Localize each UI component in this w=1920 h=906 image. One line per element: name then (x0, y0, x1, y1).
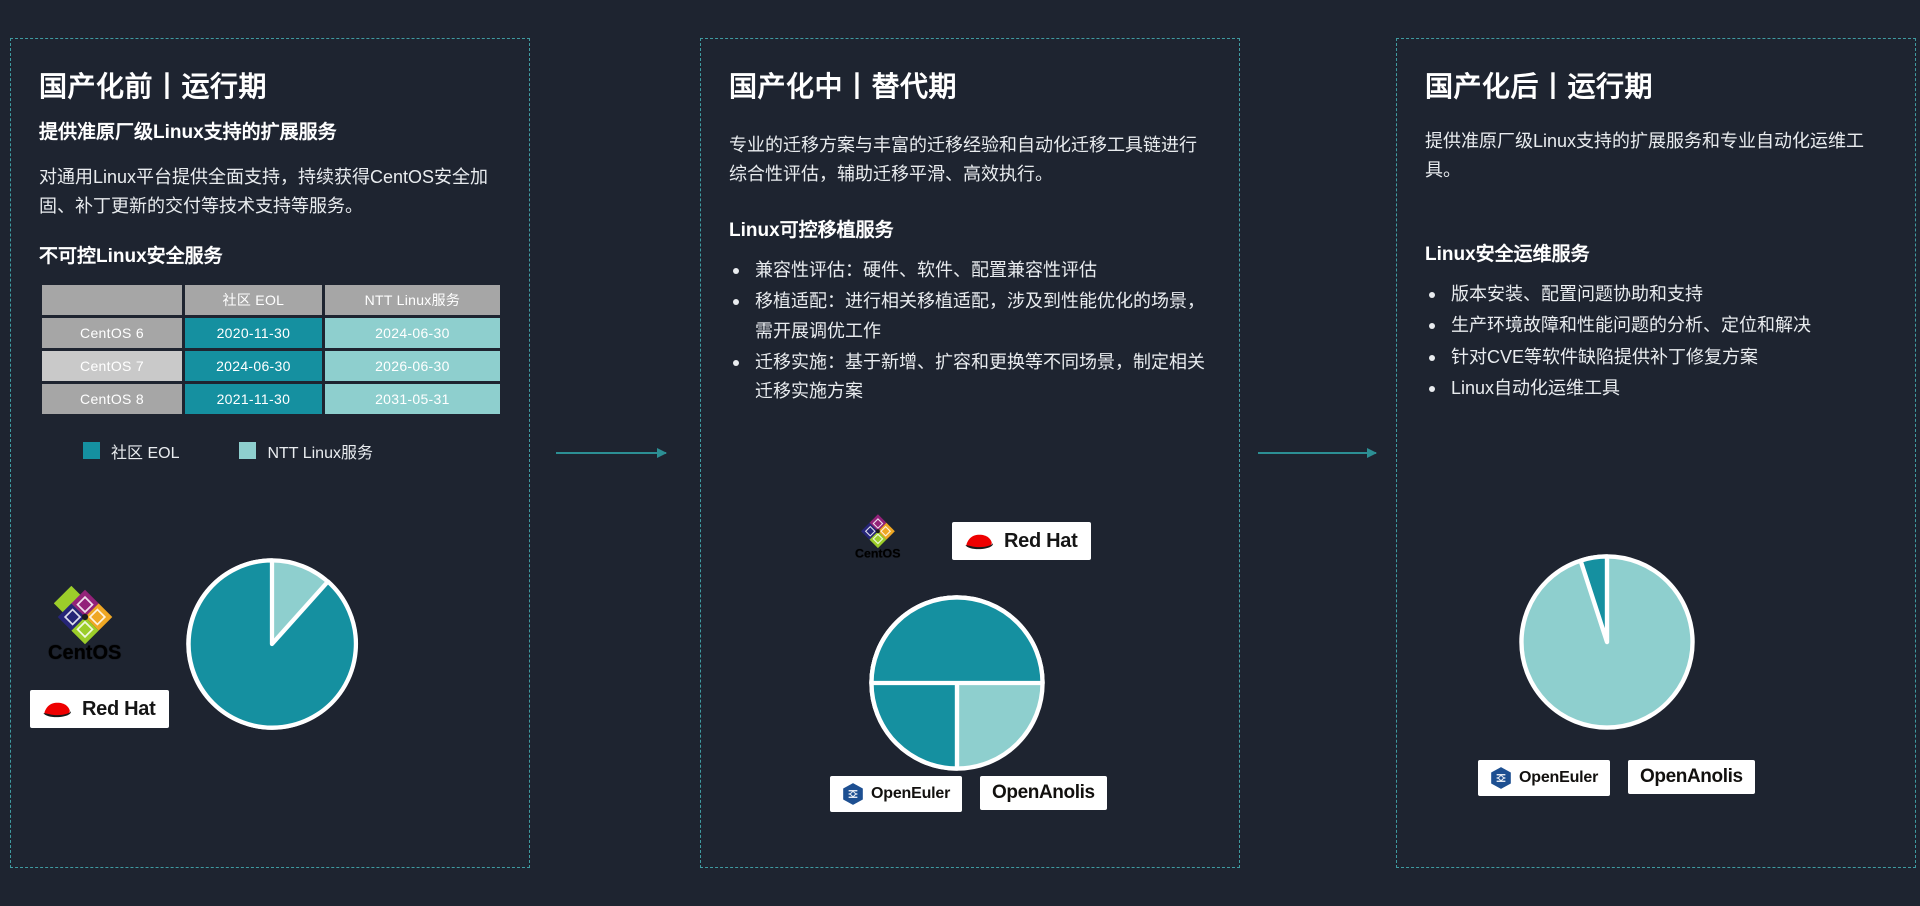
panel-before-localization: 国产化前丨运行期 提供准原厂级Linux支持的扩展服务 对通用Linux平台提供… (10, 38, 530, 868)
table-col-os (42, 285, 182, 315)
panel-2-body: 专业的迁移方案与丰富的迁移经验和自动化迁移工具链进行综合性评估，辅助迁移平滑、高… (729, 131, 1211, 189)
panel-1-title: 国产化前丨运行期 (39, 65, 501, 105)
redhat-logo: Red Hat (30, 690, 169, 728)
redhat-fedora-icon (962, 529, 996, 553)
centos-wordmark: CentOS (855, 547, 900, 561)
openanolis-logo: OpenAnolis (980, 776, 1107, 810)
openeuler-wordmark: OpenEuler (871, 785, 950, 803)
openeuler-mark-icon (1490, 766, 1512, 790)
openanolis-wordmark: OpenAnolis (992, 782, 1095, 804)
openeuler-mark-icon (842, 782, 864, 806)
pie-chart-panel-3 (1516, 551, 1698, 733)
eol-table: 社区 EOL NTT Linux服务 CentOS 6 2020-11-30 2… (39, 282, 503, 417)
list-item: 移植适配：进行相关移植适配，涉及到性能优化的场景，需开展调优工作 (729, 287, 1211, 345)
redhat-fedora-icon (40, 697, 74, 721)
table-row: CentOS 8 2021-11-30 2031-05-31 (42, 384, 500, 414)
centos-logo: CentOS (48, 586, 121, 665)
panel-1-section-heading: 不可控Linux安全服务 (39, 241, 501, 268)
openanolis-wordmark: OpenAnolis (1640, 766, 1743, 788)
centos-mark-icon (54, 586, 116, 648)
cell-os: CentOS 8 (42, 384, 182, 414)
arrow-stage-1-to-2 (556, 452, 666, 454)
legend-label: 社区 EOL (111, 439, 179, 463)
legend-swatch-icon (239, 442, 256, 459)
legend-swatch-icon (83, 442, 100, 459)
openanolis-logo: OpenAnolis (1628, 760, 1755, 794)
redhat-logo: Red Hat (952, 522, 1091, 560)
cell-eol: 2020-11-30 (185, 318, 322, 348)
panel-3-body: 提供准原厂级Linux支持的扩展服务和专业自动化运维工具。 (1425, 127, 1887, 185)
cell-os: CentOS 7 (42, 351, 182, 381)
openeuler-logo: OpenEuler (830, 776, 962, 812)
table-col-ntt: NTT Linux服务 (325, 285, 500, 315)
panel-2-section-heading: Linux可控移植服务 (729, 215, 1211, 242)
list-item: 生产环境故障和性能问题的分析、定位和解决 (1425, 311, 1887, 340)
legend-label: NTT Linux服务 (267, 439, 373, 463)
list-item: Linux自动化运维工具 (1425, 374, 1887, 403)
panel-3-bullet-list: 版本安装、配置问题协助和支持 生产环境故障和性能问题的分析、定位和解决 针对CV… (1425, 280, 1887, 403)
panel-2-title: 国产化中丨替代期 (729, 65, 1211, 105)
cell-eol: 2024-06-30 (185, 351, 322, 381)
centos-logo: CentOS (855, 512, 900, 561)
cell-ntt: 2024-06-30 (325, 318, 500, 348)
list-item: 迁移实施：基于新增、扩容和更换等不同场景，制定相关迁移实施方案 (729, 348, 1211, 406)
slide-canvas: 国产化前丨运行期 提供准原厂级Linux支持的扩展服务 对通用Linux平台提供… (0, 0, 1920, 906)
centos-mark-icon (859, 512, 897, 550)
list-item: 兼容性评估：硬件、软件、配置兼容性评估 (729, 256, 1211, 285)
table-row: CentOS 7 2024-06-30 2026-06-30 (42, 351, 500, 381)
arrow-stage-2-to-3 (1258, 452, 1376, 454)
panel-after-localization: 国产化后丨运行期 提供准原厂级Linux支持的扩展服务和专业自动化运维工具。 L… (1396, 38, 1916, 868)
list-item: 针对CVE等软件缺陷提供补丁修复方案 (1425, 343, 1887, 372)
list-item: 版本安装、配置问题协助和支持 (1425, 280, 1887, 309)
panel-1-subtitle: 提供准原厂级Linux支持的扩展服务 (39, 119, 501, 147)
table-col-eol: 社区 EOL (185, 285, 322, 315)
openeuler-wordmark: OpenEuler (1519, 769, 1598, 787)
redhat-wordmark: Red Hat (1004, 530, 1077, 553)
legend-item-eol: 社区 EOL (83, 439, 179, 463)
pie-chart-panel-1 (183, 555, 361, 733)
pie-legend: 社区 EOL NTT Linux服务 (83, 439, 501, 463)
table-row: CentOS 6 2020-11-30 2024-06-30 (42, 318, 500, 348)
legend-item-ntt: NTT Linux服务 (239, 439, 373, 463)
panel-3-section-heading: Linux安全运维服务 (1425, 239, 1887, 266)
table-header-row: 社区 EOL NTT Linux服务 (42, 285, 500, 315)
openeuler-logo: OpenEuler (1478, 760, 1610, 796)
cell-ntt: 2026-06-30 (325, 351, 500, 381)
panel-3-title: 国产化后丨运行期 (1425, 65, 1887, 105)
cell-ntt: 2031-05-31 (325, 384, 500, 414)
cell-os: CentOS 6 (42, 318, 182, 348)
redhat-wordmark: Red Hat (82, 698, 155, 721)
panel-2-bullet-list: 兼容性评估：硬件、软件、配置兼容性评估 移植适配：进行相关移植适配，涉及到性能优… (729, 256, 1211, 406)
panel-1-body: 对通用Linux平台提供全面支持，持续获得CentOS安全加固、补丁更新的交付等… (39, 163, 501, 221)
centos-wordmark: CentOS (48, 642, 121, 665)
cell-eol: 2021-11-30 (185, 384, 322, 414)
pie-chart-panel-2 (866, 592, 1048, 774)
